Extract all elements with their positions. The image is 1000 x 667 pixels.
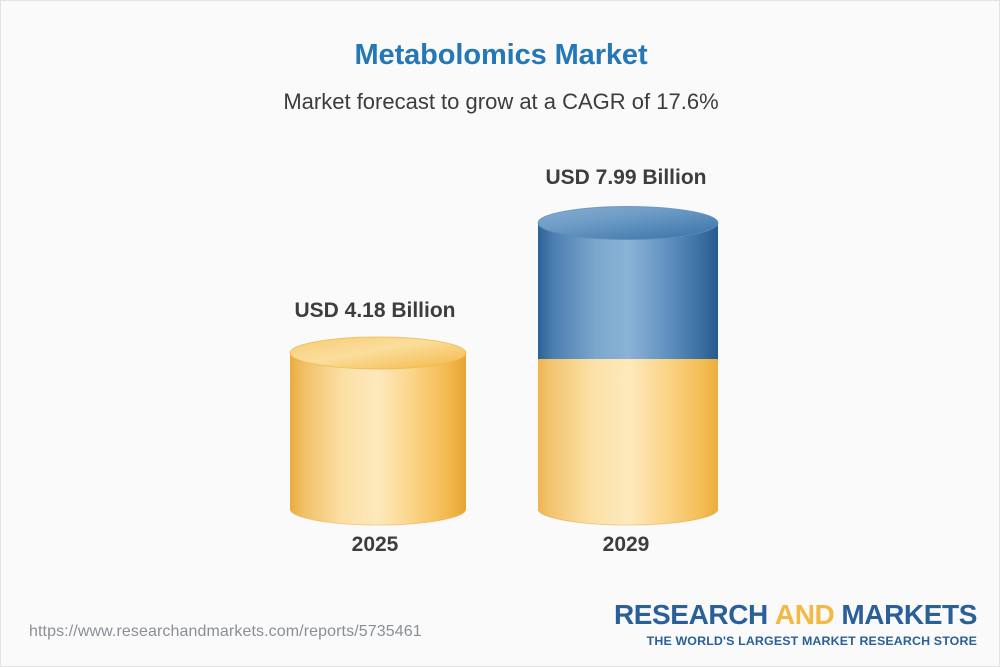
logo-word-research: RESEARCH [614, 599, 768, 630]
research-and-markets-logo[interactable]: RESEARCHANDMARKETS THE WORLD'S LARGEST M… [614, 601, 977, 648]
report-url[interactable]: https://www.researchandmarkets.com/repor… [29, 623, 422, 641]
logo-wordmark: RESEARCHANDMARKETS [614, 601, 977, 629]
logo-word-markets: MARKETS [841, 599, 977, 630]
plot-area: USD 4.18 Billion [1, 1, 1000, 601]
segment-yellow-2029 [531, 359, 726, 531]
chart-canvas: Metabolomics Market Market forecast to g… [0, 0, 1000, 667]
logo-tagline: THE WORLD'S LARGEST MARKET RESEARCH STOR… [614, 634, 977, 648]
logo-word-and: AND [775, 599, 834, 630]
value-label-2029: USD 7.99 Billion [476, 166, 776, 190]
category-label-2029: 2029 [476, 533, 776, 557]
cylinder-2029 [531, 197, 726, 531]
bar-group-2029: USD 7.99 Billion [1, 1, 1000, 601]
